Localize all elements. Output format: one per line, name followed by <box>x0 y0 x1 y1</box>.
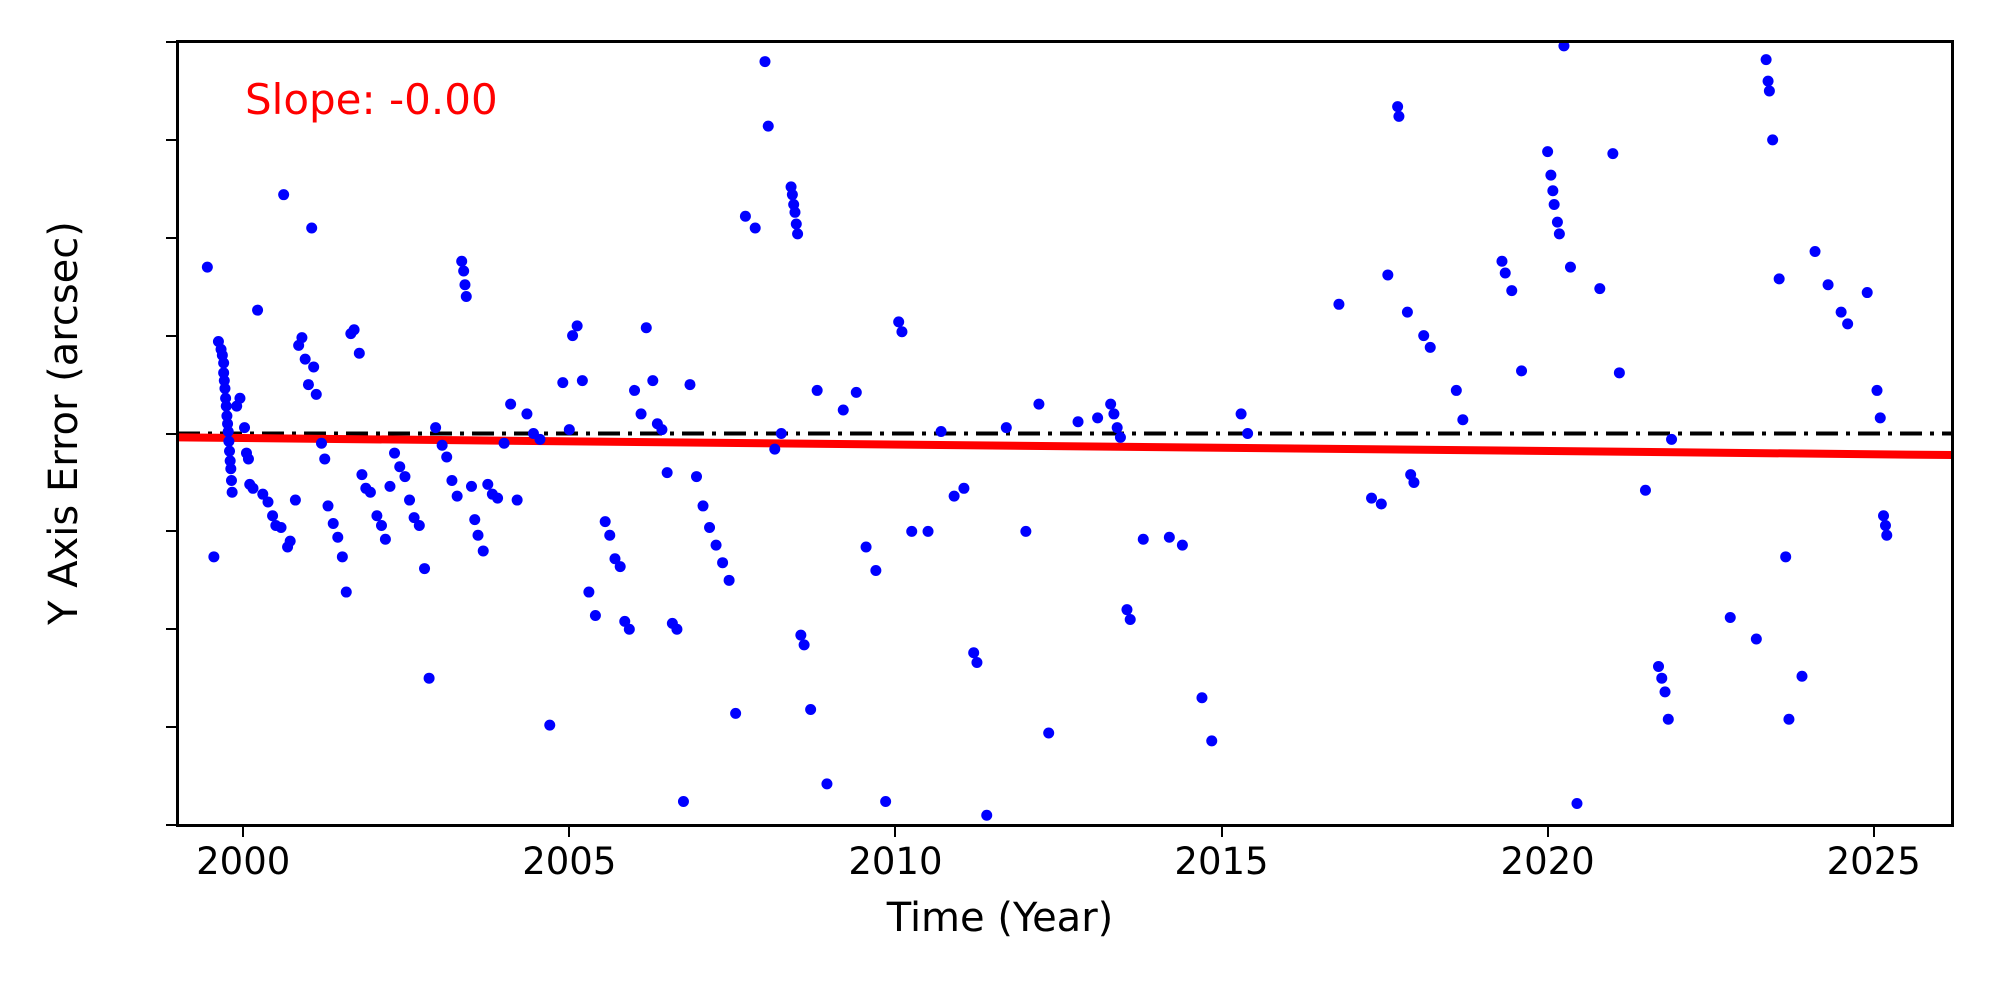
data-point <box>936 426 947 437</box>
slope-annotation: Slope: -0.00 <box>245 75 498 124</box>
data-point <box>1043 727 1054 738</box>
y-tick-mark <box>166 41 177 43</box>
data-point <box>769 444 780 455</box>
data-point <box>394 461 405 472</box>
data-point <box>583 587 594 598</box>
data-point <box>478 545 489 556</box>
data-point <box>805 704 816 715</box>
data-point <box>577 375 588 386</box>
data-point <box>234 393 245 404</box>
data-point <box>446 475 457 486</box>
data-point <box>223 426 234 437</box>
x-tick-label: 2025 <box>1794 843 1954 880</box>
data-point <box>567 330 578 341</box>
data-point <box>1871 385 1882 396</box>
data-point <box>316 438 327 449</box>
data-point <box>1764 85 1775 96</box>
data-point <box>1138 534 1149 545</box>
data-point <box>1796 671 1807 682</box>
data-point <box>656 424 667 435</box>
data-point <box>1393 111 1404 122</box>
data-point <box>1333 299 1344 310</box>
data-point <box>684 379 695 390</box>
data-point <box>615 561 626 572</box>
data-point <box>557 377 568 388</box>
data-point <box>691 471 702 482</box>
data-point <box>981 810 992 821</box>
data-point <box>1565 262 1576 273</box>
data-point <box>1725 612 1736 623</box>
data-point <box>717 557 728 568</box>
data-point <box>812 385 823 396</box>
data-point <box>278 189 289 200</box>
data-point <box>354 348 365 359</box>
data-point <box>1880 520 1891 531</box>
data-point <box>1774 273 1785 284</box>
data-point <box>1402 307 1413 318</box>
data-point <box>1640 485 1651 496</box>
data-point <box>662 467 673 478</box>
data-point <box>437 440 448 451</box>
data-point <box>512 495 523 506</box>
data-point <box>1881 530 1892 541</box>
x-tick-mark <box>568 826 570 837</box>
data-point <box>1823 279 1834 290</box>
data-point <box>285 536 296 547</box>
data-point <box>893 316 904 327</box>
data-point <box>263 497 274 508</box>
data-point <box>218 358 229 369</box>
data-point <box>492 493 503 504</box>
data-point <box>248 483 259 494</box>
data-point <box>1767 134 1778 145</box>
data-point <box>740 211 751 222</box>
data-point <box>399 471 410 482</box>
data-point <box>1115 432 1126 443</box>
axis-spine-top <box>176 40 1954 43</box>
data-point <box>750 222 761 233</box>
data-point <box>1862 287 1873 298</box>
data-point <box>337 551 348 562</box>
data-point <box>458 266 469 277</box>
data-point <box>730 708 741 719</box>
data-point <box>1382 269 1393 280</box>
data-point <box>789 207 800 218</box>
data-point <box>1457 414 1468 425</box>
data-point <box>1542 146 1553 157</box>
data-point <box>870 565 881 576</box>
data-point <box>499 438 510 449</box>
y-tick-mark <box>166 726 177 728</box>
data-point <box>1666 434 1677 445</box>
data-point <box>572 320 583 331</box>
data-point <box>838 405 849 416</box>
data-point <box>1125 614 1136 625</box>
data-point <box>1554 228 1565 239</box>
axis-spine-bottom <box>176 824 1954 827</box>
data-point <box>604 530 615 541</box>
data-point <box>296 332 307 343</box>
data-point <box>1780 551 1791 562</box>
data-point <box>1552 217 1563 228</box>
data-point <box>624 624 635 635</box>
data-point <box>671 624 682 635</box>
data-point <box>1878 510 1889 521</box>
data-point <box>328 518 339 529</box>
data-point <box>1451 385 1462 396</box>
y-tick-mark <box>166 433 177 435</box>
data-point <box>311 389 322 400</box>
data-point <box>223 436 234 447</box>
data-point <box>1418 330 1429 341</box>
data-point <box>1506 285 1517 296</box>
data-point <box>791 219 802 230</box>
x-tick-mark <box>1221 826 1223 837</box>
data-point <box>441 451 452 462</box>
data-point <box>1500 267 1511 278</box>
data-point <box>534 434 545 445</box>
data-point <box>600 516 611 527</box>
data-point <box>1366 493 1377 504</box>
data-point <box>1653 661 1664 672</box>
data-point <box>1516 365 1527 376</box>
data-point <box>239 422 250 433</box>
data-point <box>1408 477 1419 488</box>
data-point <box>1763 76 1774 87</box>
data-point <box>226 475 237 486</box>
x-tick-mark <box>242 826 244 837</box>
data-point <box>1177 540 1188 551</box>
data-point <box>319 453 330 464</box>
data-point <box>629 385 640 396</box>
y-tick-mark <box>166 824 177 826</box>
y-axis-label: Y Axis Error (arcsec) <box>41 43 87 803</box>
data-point <box>724 575 735 586</box>
data-point <box>1656 673 1667 684</box>
data-point <box>452 491 463 502</box>
data-point <box>466 481 477 492</box>
data-point <box>851 387 862 398</box>
data-point <box>636 408 647 419</box>
data-point <box>1660 686 1671 697</box>
x-tick-label: 2005 <box>489 843 649 880</box>
data-point <box>482 479 493 490</box>
data-point <box>365 487 376 498</box>
data-point <box>461 291 472 302</box>
data-point <box>1571 798 1582 809</box>
data-point <box>208 551 219 562</box>
data-point <box>1196 692 1207 703</box>
data-point <box>1236 408 1247 419</box>
x-axis-label: Time (Year) <box>0 895 2000 941</box>
data-point <box>349 324 360 335</box>
data-point <box>1164 532 1175 543</box>
data-point <box>356 469 367 480</box>
data-point <box>469 514 480 525</box>
data-point <box>459 279 470 290</box>
data-point <box>371 510 382 521</box>
data-point <box>323 500 334 511</box>
data-point <box>202 262 213 273</box>
data-point <box>799 639 810 650</box>
data-point <box>384 481 395 492</box>
y-tick-mark <box>166 530 177 532</box>
data-point <box>759 56 770 67</box>
data-point <box>564 424 575 435</box>
data-point <box>380 534 391 545</box>
data-point <box>303 379 314 390</box>
x-tick-label: 2000 <box>163 843 323 880</box>
data-point <box>861 542 872 553</box>
data-point <box>896 326 907 337</box>
data-point <box>227 487 238 498</box>
data-point <box>221 401 232 412</box>
data-point <box>1875 412 1886 423</box>
data-point <box>306 222 317 233</box>
data-point <box>792 228 803 239</box>
data-point <box>225 463 236 474</box>
data-point <box>1663 714 1674 725</box>
data-point <box>252 305 263 316</box>
axis-spine-right <box>1951 40 1954 827</box>
data-point <box>1020 526 1031 537</box>
data-point <box>1092 412 1103 423</box>
data-point <box>787 189 798 200</box>
data-point <box>243 453 254 464</box>
data-point <box>290 495 301 506</box>
data-point <box>1614 367 1625 378</box>
data-point <box>1549 199 1560 210</box>
x-tick-mark <box>1873 826 1875 837</box>
data-point <box>1547 185 1558 196</box>
data-point <box>505 399 516 410</box>
data-point <box>1033 399 1044 410</box>
data-point <box>1594 283 1605 294</box>
data-point <box>424 673 435 684</box>
data-point <box>1376 498 1387 509</box>
x-tick-label: 2010 <box>815 843 975 880</box>
y-tick-mark <box>166 237 177 239</box>
data-point <box>949 491 960 502</box>
data-point <box>267 510 278 521</box>
data-point <box>1001 422 1012 433</box>
data-point <box>521 408 532 419</box>
data-point <box>704 522 715 533</box>
data-point <box>419 563 430 574</box>
data-point <box>1206 735 1217 746</box>
y-tick-mark <box>166 139 177 141</box>
x-tick-label: 2020 <box>1468 843 1628 880</box>
data-point <box>1112 422 1123 433</box>
data-point <box>544 720 555 731</box>
data-point <box>224 446 235 457</box>
data-point <box>404 495 415 506</box>
data-point <box>376 520 387 531</box>
data-point <box>641 322 652 333</box>
y-tick-mark <box>166 628 177 630</box>
data-point <box>1842 318 1853 329</box>
data-point <box>1810 246 1821 257</box>
data-point <box>971 657 982 668</box>
x-tick-mark <box>1547 826 1549 837</box>
data-point <box>389 448 400 459</box>
chart-figure: 2.01.51.00.50.0−0.5−1.0−1.5−2.0 20002005… <box>0 0 2000 1000</box>
data-points <box>202 40 1892 820</box>
x-tick-label: 2015 <box>1142 843 1302 880</box>
data-point <box>1242 428 1253 439</box>
data-point <box>795 630 806 641</box>
data-point <box>1073 416 1084 427</box>
data-point <box>880 796 891 807</box>
data-point <box>821 778 832 789</box>
y-tick-mark <box>166 335 177 337</box>
data-point <box>1836 307 1847 318</box>
data-point <box>1545 170 1556 181</box>
data-point <box>1425 342 1436 353</box>
data-point <box>219 383 230 394</box>
data-point <box>456 256 467 267</box>
data-point <box>1751 634 1762 645</box>
data-point <box>308 361 319 372</box>
data-point <box>698 500 709 511</box>
data-point <box>1607 148 1618 159</box>
data-point <box>678 796 689 807</box>
data-point <box>300 354 311 365</box>
data-point <box>968 647 979 658</box>
data-point <box>276 522 287 533</box>
data-point <box>958 483 969 494</box>
data-point <box>923 526 934 537</box>
data-point <box>776 428 787 439</box>
data-point <box>473 530 484 541</box>
data-point <box>1392 101 1403 112</box>
data-point <box>590 610 601 621</box>
data-point <box>430 422 441 433</box>
data-point <box>414 520 425 531</box>
data-point <box>1105 399 1116 410</box>
data-point <box>1761 54 1772 65</box>
data-point <box>711 540 722 551</box>
data-point <box>341 587 352 598</box>
data-point <box>332 532 343 543</box>
x-tick-mark <box>894 826 896 837</box>
data-point <box>906 526 917 537</box>
data-point <box>1108 408 1119 419</box>
data-point <box>1783 714 1794 725</box>
data-point <box>1121 604 1132 615</box>
data-point <box>1496 256 1507 267</box>
data-point <box>763 121 774 132</box>
data-point <box>647 375 658 386</box>
